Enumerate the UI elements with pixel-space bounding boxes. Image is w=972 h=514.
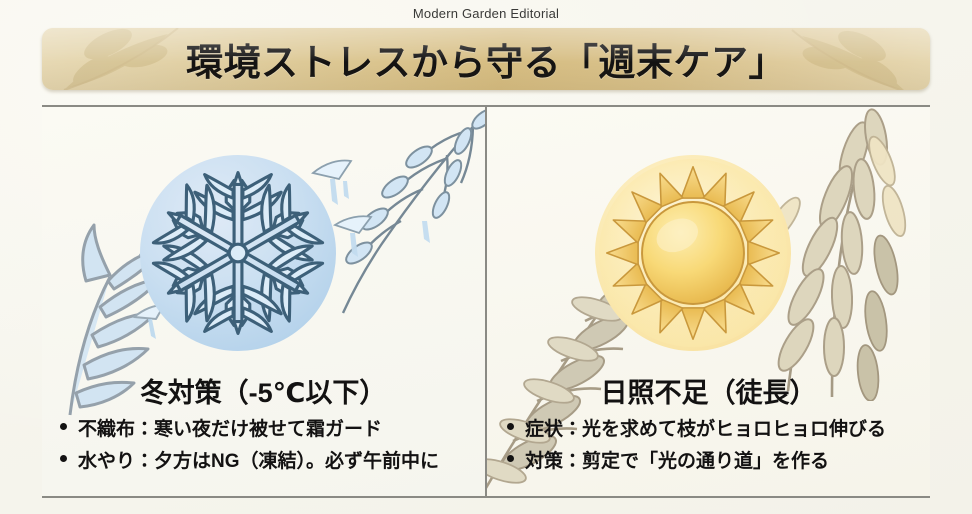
list-item: 対策：剪定で「光の通り道」を作る	[487, 452, 930, 471]
sun-icon-badge	[595, 155, 791, 351]
bullet-dot-icon	[507, 455, 514, 462]
bullet-text: 症状：光を求めて枝がヒョロヒョロ伸びる	[525, 420, 886, 439]
page-title: 環境ストレスから守る「週末ケア」	[42, 28, 930, 90]
panel-cold-heading: 冬対策（-5℃以下）	[42, 371, 485, 410]
list-item: 不織布：寒い夜だけ被せて霜ガード	[42, 420, 485, 439]
cold-icon-badge	[140, 155, 336, 351]
divider-bottom	[42, 496, 930, 498]
panel-cold-bullets: 不織布：寒い夜だけ被せて霜ガード 水やり：夕方はNG（凍結）。必ず午前中に	[42, 420, 485, 484]
bullet-dot-icon	[60, 423, 67, 430]
bullet-text: 水やり：夕方はNG（凍結）。必ず午前中に	[78, 452, 439, 471]
list-item: 水やり：夕方はNG（凍結）。必ず午前中に	[42, 452, 485, 471]
bullet-text: 対策：剪定で「光の通り道」を作る	[525, 452, 829, 471]
title-banner: 環境ストレスから守る「週末ケア」	[42, 28, 930, 90]
eyebrow-label: Modern Garden Editorial	[0, 6, 972, 21]
bullet-text: 不織布：寒い夜だけ被せて霜ガード	[78, 420, 382, 439]
sun-icon	[595, 155, 791, 351]
list-item: 症状：光を求めて枝がヒョロヒョロ伸びる	[487, 420, 930, 439]
bullet-dot-icon	[60, 455, 67, 462]
panel-sun-heading: 日照不足（徒長）	[487, 371, 930, 410]
panel-cold: 冬対策（-5℃以下） 不織布：寒い夜だけ被せて霜ガード 水やり：夕方はNG（凍結…	[42, 107, 485, 496]
slide-canvas: Modern Garden Editorial 環境ストレスから守る「週末ケア」	[0, 0, 972, 514]
panel-sun: 日照不足（徒長） 症状：光を求めて枝がヒョロヒョロ伸びる 対策：剪定で「光の通り…	[487, 107, 930, 496]
panel-sun-bullets: 症状：光を求めて枝がヒョロヒョロ伸びる 対策：剪定で「光の通り道」を作る	[487, 420, 930, 484]
bullet-dot-icon	[507, 423, 514, 430]
snowflake-icon	[140, 155, 336, 351]
